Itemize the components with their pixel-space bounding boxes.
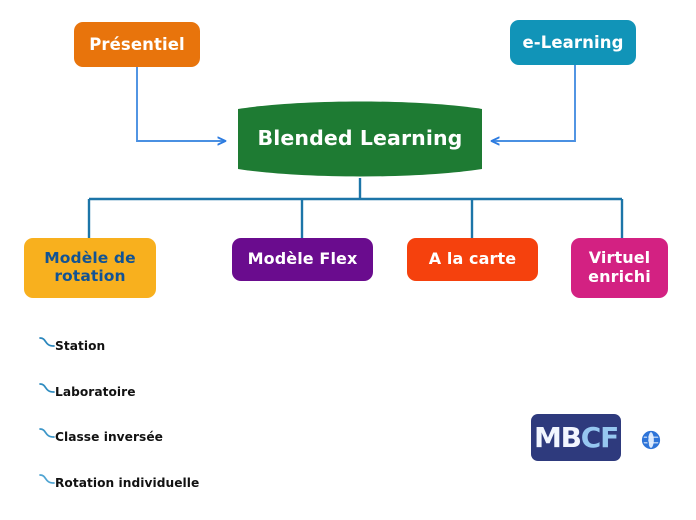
- connector-elearning-to-center: [492, 65, 575, 141]
- subitem-laboratoire[interactable]: Laboratoire: [55, 385, 136, 399]
- node-blended-learning-label: Blended Learning: [258, 127, 463, 151]
- subitem-rotation-individuelle[interactable]: Rotation individuelle: [55, 476, 199, 490]
- connector-presentiel-to-center: [137, 67, 225, 141]
- subitem-classe-inversee[interactable]: Classe inversée: [55, 430, 163, 444]
- connector-rotation-subtree: [40, 298, 54, 483]
- node-presentiel[interactable]: Présentiel: [74, 22, 200, 67]
- globe-icon: [641, 430, 661, 450]
- node-modele-de-rotation[interactable]: Modèle de rotation: [24, 238, 156, 298]
- node-modele-flex[interactable]: Modèle Flex: [232, 238, 373, 281]
- node-virtuel-enrichi[interactable]: Virtuel enrichi: [571, 238, 668, 298]
- node-presentiel-label: Présentiel: [89, 35, 185, 54]
- mbcf-logo-mb: MB: [534, 421, 581, 454]
- node-a-la-carte-label: A la carte: [429, 250, 516, 269]
- subitem-station[interactable]: Station: [55, 339, 105, 353]
- node-blended-learning[interactable]: Blended Learning: [232, 100, 488, 178]
- node-elearning-label: e-Learning: [523, 33, 624, 52]
- node-virtuel-enrichi-label: Virtuel enrichi: [571, 249, 668, 286]
- mbcf-logo-cf: CF: [581, 421, 618, 454]
- node-modele-de-rotation-label: Modèle de rotation: [24, 250, 156, 286]
- node-a-la-carte[interactable]: A la carte: [407, 238, 538, 281]
- mbcf-logo-text: MBCF: [534, 421, 618, 454]
- connector-center-to-children: [89, 178, 622, 238]
- node-elearning[interactable]: e-Learning: [510, 20, 636, 65]
- node-modele-flex-label: Modèle Flex: [248, 250, 358, 269]
- diagram-canvas: Présentiel e-Learning Blended Learning M…: [0, 0, 696, 520]
- mbcf-logo: MBCF: [531, 414, 621, 461]
